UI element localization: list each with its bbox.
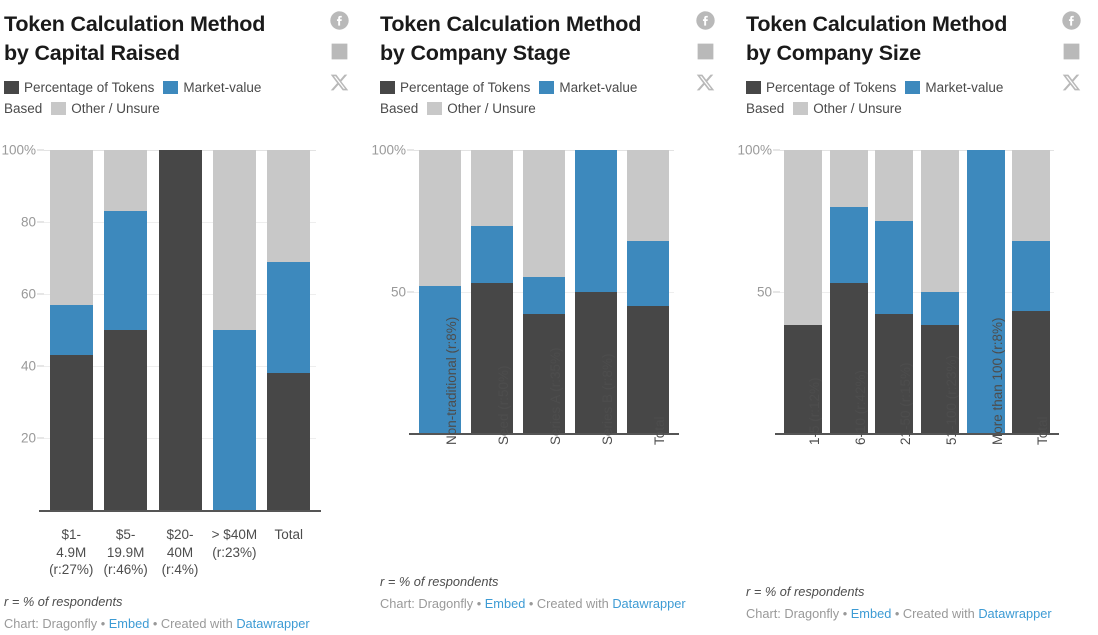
credit-separator: • [97, 616, 109, 631]
y-axis-tick-mark [773, 291, 780, 292]
credit-source: Chart: Dragonfly [380, 596, 473, 611]
bar-segment[interactable] [471, 150, 513, 226]
bar-segment[interactable] [104, 150, 147, 211]
bar-segment[interactable] [575, 150, 617, 292]
y-axis-tick-mark [773, 150, 780, 151]
x-axis-tick-label: Total [262, 526, 316, 544]
x-axis-tick-label: 21-50 (r:15%) [899, 362, 913, 445]
credit-separator: • [891, 606, 903, 621]
y-axis-tick-label: 100% [366, 143, 406, 158]
x-axis-baseline [39, 510, 321, 512]
bar-segment[interactable] [104, 330, 147, 510]
bar-column[interactable] [104, 150, 147, 510]
credit-created-with: Created with [161, 616, 233, 631]
chart-panel-company-stage: Token Calculation Methodby Company Stage… [366, 0, 732, 635]
bar-segment[interactable] [213, 330, 256, 510]
credit-source: Chart: Dragonfly [746, 606, 839, 621]
bar-segment[interactable] [875, 150, 913, 221]
y-axis-tick-mark [407, 150, 414, 151]
chart-plot-area: 20406080100%$1-4.9M(r:27%)$5-19.9M(r:46%… [0, 0, 366, 635]
bar-segment[interactable] [1012, 311, 1050, 433]
y-axis-tick-mark [37, 438, 44, 439]
datawrapper-link[interactable]: Datawrapper [978, 606, 1051, 621]
chart-panel-company-size: Token Calculation Methodby Company Size … [732, 0, 1098, 635]
x-axis-tick-label: Total [1036, 416, 1050, 445]
x-axis-tick-label: 6-10 (r:42%) [854, 370, 868, 445]
x-axis-tick-label: Total [653, 416, 667, 445]
chart-footnote: r = % of respondents [4, 594, 366, 609]
bar-column[interactable] [50, 150, 93, 510]
bar-segment[interactable] [50, 150, 93, 305]
embed-link[interactable]: Embed [485, 596, 526, 611]
bar-segment[interactable] [267, 262, 310, 374]
bar-segment[interactable] [1012, 241, 1050, 312]
bar-column[interactable] [213, 150, 256, 510]
y-axis-tick-label: 100% [0, 143, 36, 158]
chart-footer: r = % of respondentsChart: Dragonfly • E… [4, 594, 366, 631]
x-axis-tick-label: > $40M(r:23%) [207, 526, 261, 561]
credit-separator: • [525, 596, 537, 611]
y-axis-tick-label: 40 [0, 359, 36, 374]
y-axis-tick-label: 100% [732, 143, 772, 158]
bar-segment[interactable] [267, 373, 310, 510]
bar-segment[interactable] [784, 150, 822, 325]
bar-segment[interactable] [523, 277, 565, 314]
bar-segment[interactable] [627, 241, 669, 306]
y-axis-tick-mark [37, 366, 44, 367]
bar-segment[interactable] [875, 221, 913, 314]
bar-segment[interactable] [471, 226, 513, 283]
credit-separator: • [149, 616, 161, 631]
bar-segment[interactable] [921, 150, 959, 292]
bar-segment[interactable] [419, 150, 461, 286]
y-axis-tick-label: 80 [0, 215, 36, 230]
y-axis-tick-mark [407, 291, 414, 292]
chart-footnote: r = % of respondents [746, 584, 1098, 599]
embed-link[interactable]: Embed [109, 616, 150, 631]
bar-segment[interactable] [50, 355, 93, 510]
embed-link[interactable]: Embed [851, 606, 892, 621]
charts-page: Token Calculation Methodby Capital Raise… [0, 0, 1098, 635]
bar-segment[interactable] [213, 150, 256, 330]
y-axis-tick-mark [37, 222, 44, 223]
chart-footnote: r = % of respondents [380, 574, 732, 589]
bar-column[interactable] [1012, 150, 1050, 433]
datawrapper-link[interactable]: Datawrapper [612, 596, 685, 611]
x-axis-tick-label: $5-19.9M(r:46%) [98, 526, 152, 579]
bar-segment[interactable] [267, 150, 310, 262]
bar-column[interactable] [627, 150, 669, 433]
credit-created-with: Created with [903, 606, 975, 621]
y-axis-tick-label: 60 [0, 287, 36, 302]
plot [44, 150, 316, 510]
chart-plot-area: 50100%Non-traditional (r:8%)Seed (r:50%)… [366, 0, 732, 635]
bar-segment[interactable] [921, 292, 959, 326]
bar-segment[interactable] [50, 305, 93, 355]
x-axis-tick-label: $1-4.9M(r:27%) [44, 526, 98, 579]
chart-credit: Chart: Dragonfly • Embed • Created with … [746, 606, 1098, 621]
bar-segment[interactable] [830, 207, 868, 283]
chart-footer: r = % of respondentsChart: Dragonfly • E… [746, 584, 1098, 621]
chart-credit: Chart: Dragonfly • Embed • Created with … [4, 616, 366, 631]
x-axis-tick-label: 1-5 (r:12%) [808, 377, 822, 445]
x-axis-tick-label: $20-40M(r:4%) [153, 526, 207, 579]
chart-plot-area: 50100%1-5 (r:12%)6-10 (r:42%)21-50 (r:15… [732, 0, 1098, 635]
chart-panel-capital-raised: Token Calculation Methodby Capital Raise… [0, 0, 366, 635]
chart-footer: r = % of respondentsChart: Dragonfly • E… [380, 574, 732, 611]
credit-created-with: Created with [537, 596, 609, 611]
chart-credit: Chart: Dragonfly • Embed • Created with … [380, 596, 732, 611]
x-axis-tick-label: More than 100 (r:8%) [991, 317, 1005, 445]
y-axis-tick-label: 50 [732, 284, 772, 299]
bar-segment[interactable] [830, 150, 868, 207]
x-axis-tick-label: 51-100 (r:23%) [945, 355, 959, 445]
bar-segment[interactable] [627, 306, 669, 433]
bar-segment[interactable] [159, 150, 202, 510]
y-axis-tick-label: 50 [366, 284, 406, 299]
bar-segment[interactable] [627, 150, 669, 241]
bar-segment[interactable] [104, 211, 147, 330]
credit-separator: • [839, 606, 851, 621]
y-axis-tick-mark [37, 294, 44, 295]
x-axis-tick-label: Seed (r:50%) [497, 365, 511, 445]
bar-segment[interactable] [1012, 150, 1050, 241]
credit-separator: • [473, 596, 485, 611]
y-axis-tick-mark [37, 150, 44, 151]
credit-source: Chart: Dragonfly [4, 616, 97, 631]
bar-column[interactable] [267, 150, 310, 510]
x-axis-tick-label: Series B (r:8%) [601, 353, 615, 445]
bar-segment[interactable] [523, 150, 565, 277]
x-axis-tick-label: Non-traditional (r:8%) [445, 317, 459, 445]
y-axis-tick-label: 20 [0, 431, 36, 446]
x-axis-tick-label: Series A (r:35%) [549, 347, 563, 445]
datawrapper-link[interactable]: Datawrapper [236, 616, 309, 631]
bar-column[interactable] [159, 150, 202, 510]
